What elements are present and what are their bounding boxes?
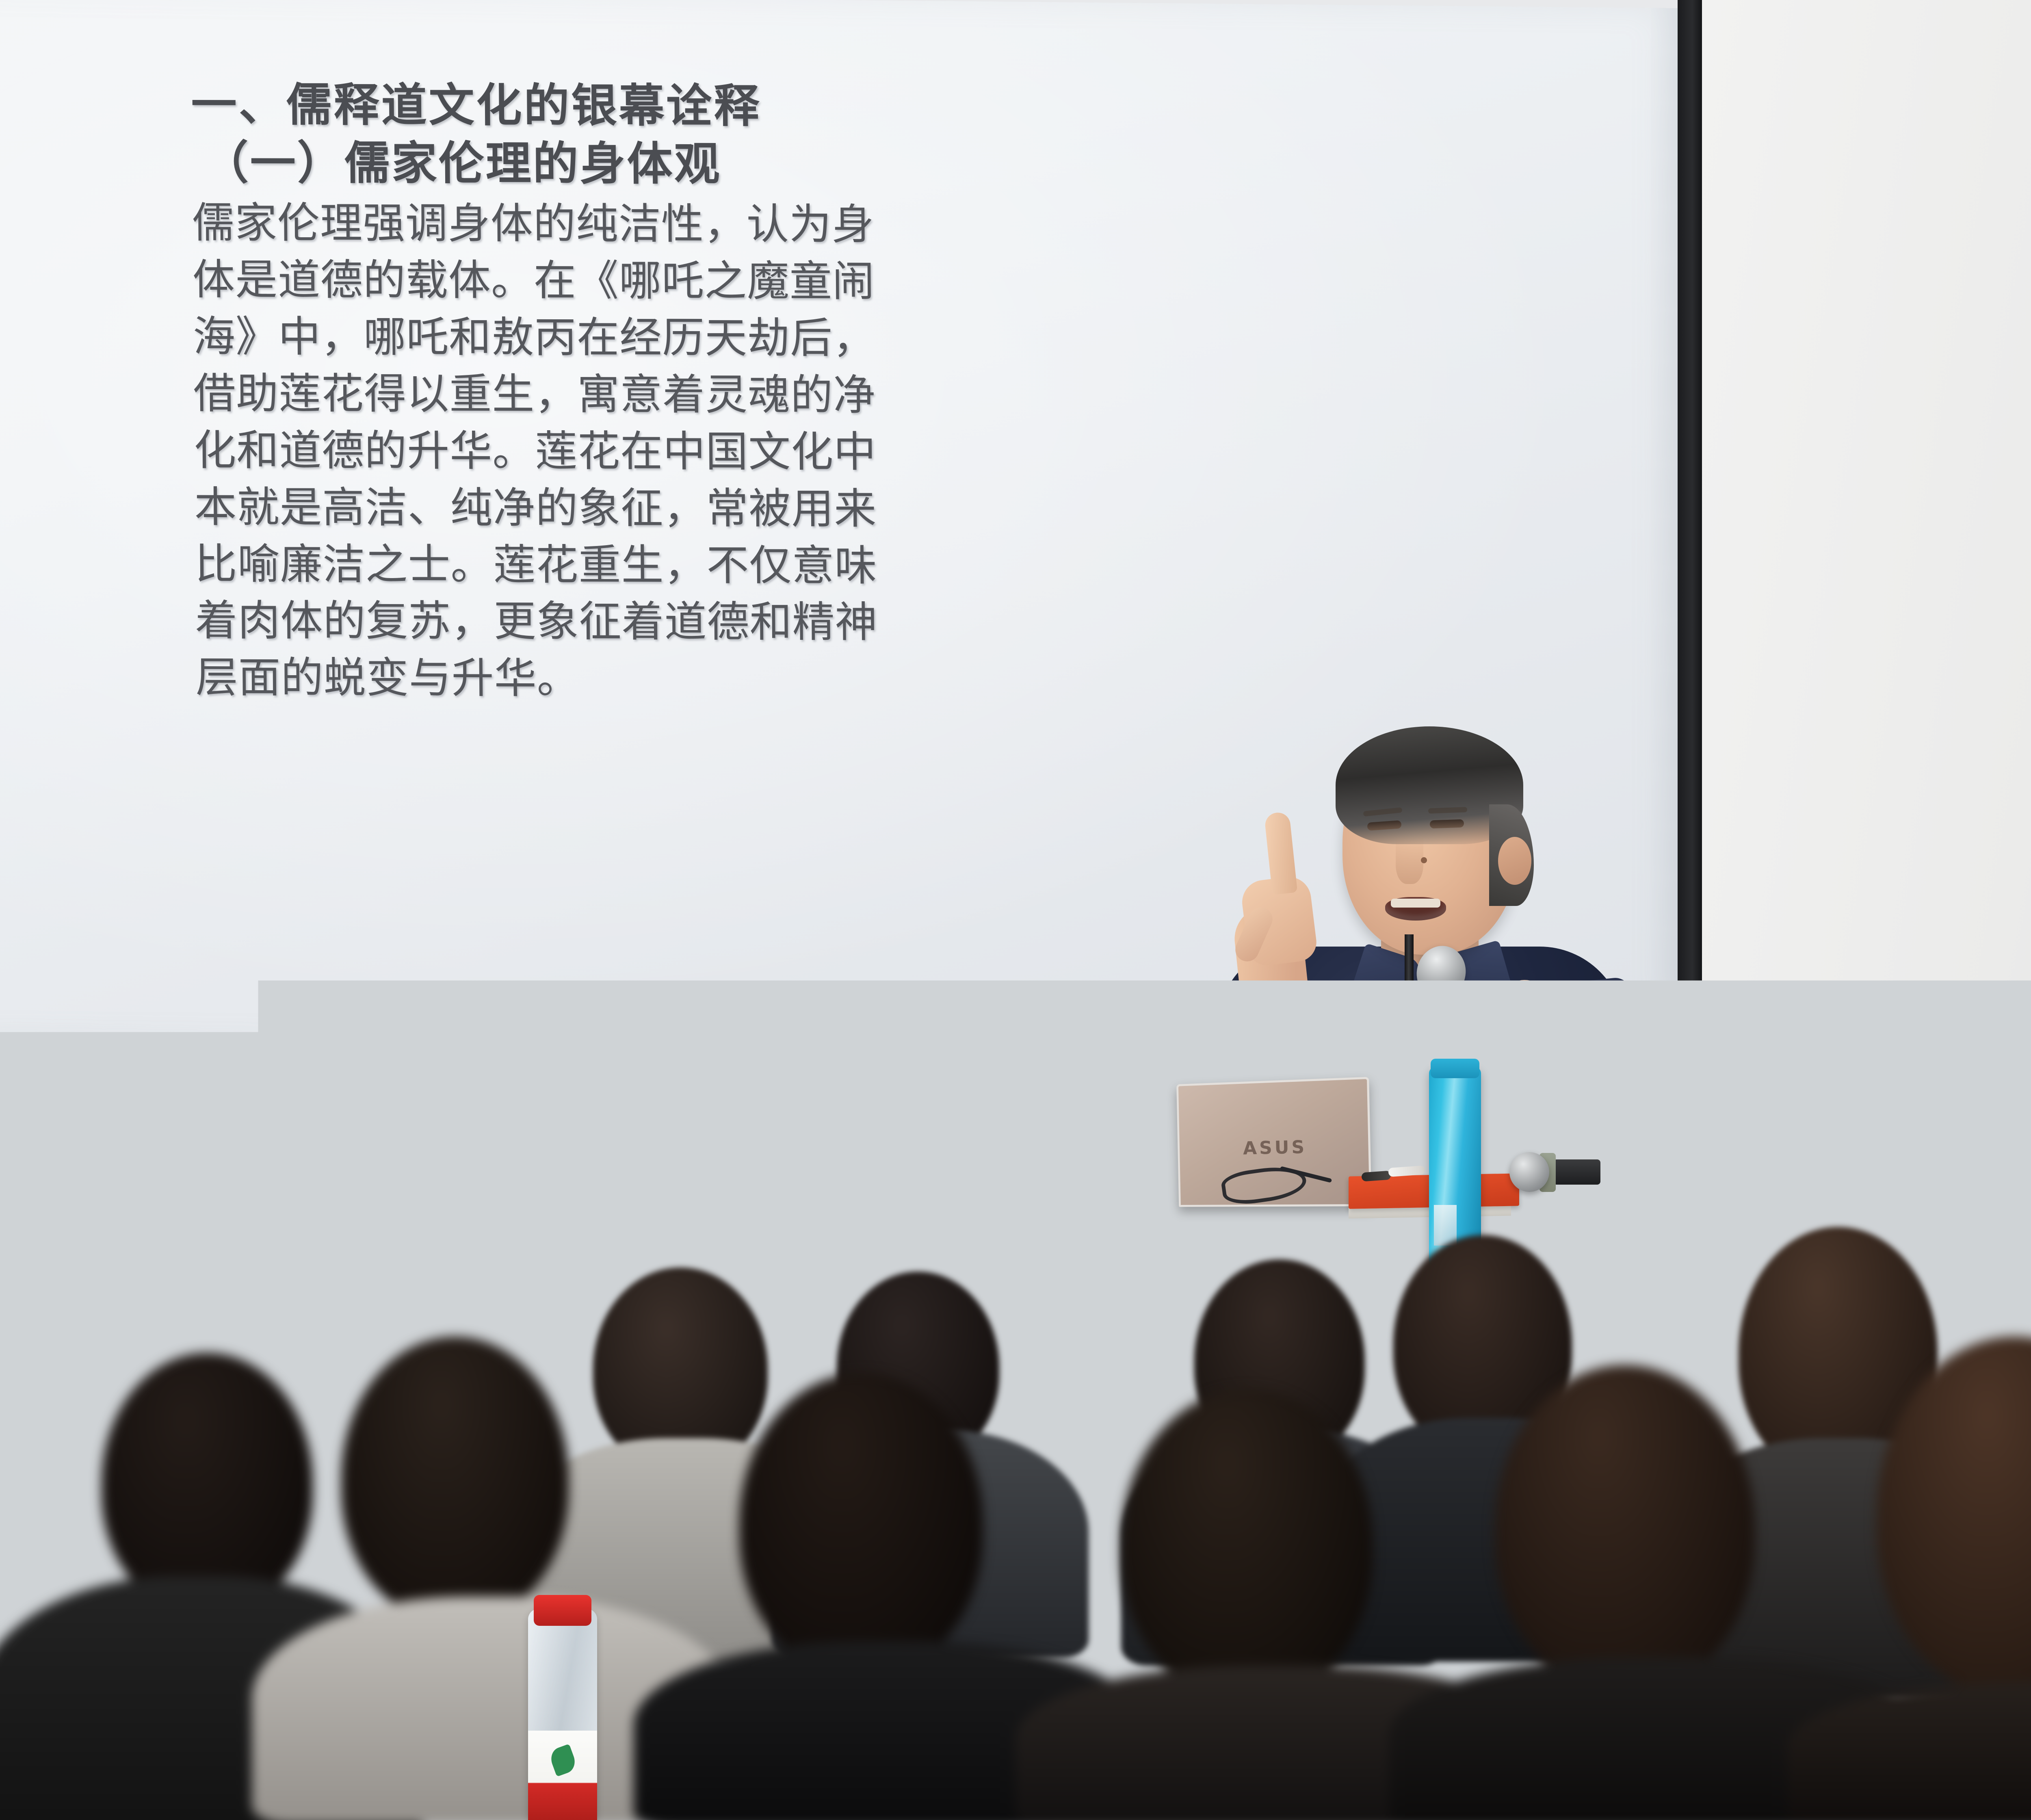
slide-body-line: 层面的蜕变与升华。	[195, 649, 1142, 708]
water-bottle-cap	[1010, 1075, 1037, 1097]
speaker-name: 张智华	[1077, 1127, 1180, 1174]
water-bottle-cap	[1037, 1078, 1064, 1100]
student-head	[102, 1353, 313, 1613]
slide-body-line: 比喻廉洁之士。莲花重生，不仅意味	[195, 536, 1141, 595]
slide-body-line: 体是道德的载体。在《哪吒之魔童闹	[192, 251, 1139, 311]
slide-body-line: 借助莲花得以重生，寓意着灵魂的净	[193, 365, 1140, 425]
chair-post	[1747, 1056, 1774, 1211]
spare-microphone-body	[1553, 1159, 1600, 1185]
slide-body-line: 本就是高洁、纯净的象征，常被用来	[194, 479, 1141, 538]
speaker-teeth	[1391, 899, 1440, 908]
slide-heading-1: 一、儒释道文化的银幕诠释	[191, 77, 1138, 135]
speaker-eye-right	[1430, 819, 1464, 829]
audience-water-bottle-cap	[534, 1595, 591, 1626]
slide-heading-2: （一）儒家伦理的身体观	[203, 135, 1138, 193]
student-head	[739, 1373, 983, 1674]
slide-body-line: 儒家伦理强调身体的纯洁性，认为身	[192, 195, 1139, 254]
slide-body-line: 化和道德的升华。莲花在中国文化中	[194, 422, 1141, 481]
slide-body-line: 海》中，哪吒和敖丙在经历天劫后，	[193, 308, 1139, 368]
lecture-hall-photo: 一、儒释道文化的银幕诠释 （一）儒家伦理的身体观 儒家伦理强调身体的纯洁性，认为…	[0, 0, 2031, 1820]
slide-body-line: 着肉体的复苏，更象征着道德和精神	[195, 592, 1142, 652]
speaker-ear	[1498, 837, 1531, 885]
thermos-bottle-label	[1434, 1205, 1457, 1246]
student-head	[341, 1337, 569, 1621]
slide-body: 儒家伦理强调身体的纯洁性，认为身 体是道德的载体。在《哪吒之魔童闹 海》中，哪吒…	[192, 195, 1142, 708]
name-placard: 张智华	[1064, 1117, 1194, 1185]
speaker-facial-mole	[1421, 857, 1427, 863]
audience-water-bottle-label	[528, 1731, 597, 1820]
screen-right-band	[1678, 0, 1702, 1097]
speaker-nose	[1396, 836, 1423, 884]
spare-microphone-tail	[1598, 1158, 1637, 1185]
spare-microphone-icon	[1509, 1152, 1549, 1192]
student-head	[1121, 1389, 1373, 1698]
laptop-brand-logo: ASUS	[1243, 1137, 1307, 1159]
thermos-bottle-cap	[1431, 1059, 1479, 1078]
chair-post-cap	[1755, 1085, 1764, 1094]
student-head	[1495, 1365, 1755, 1690]
slide-content: 一、儒释道文化的银幕诠释 （一）儒家伦理的身体观 儒家伦理强调身体的纯洁性，认为…	[191, 77, 1142, 708]
